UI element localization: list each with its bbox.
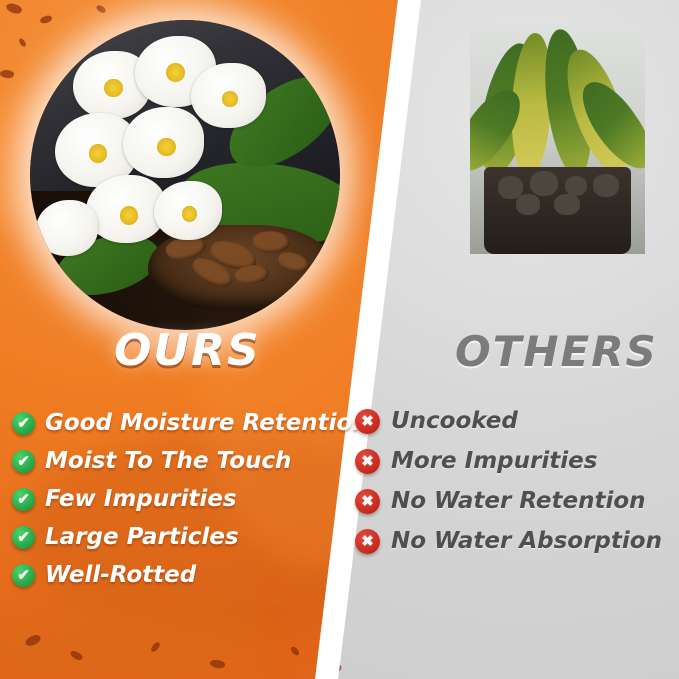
list-item: ✖ No Water Absorption	[355, 528, 675, 554]
feature-label: Uncooked	[391, 408, 518, 434]
x-circle-icon: ✖	[355, 529, 380, 554]
feature-label: Moist To The Touch	[45, 448, 291, 474]
x-circle-icon: ✖	[355, 449, 380, 474]
feature-label: Well-Rotted	[45, 562, 196, 588]
feature-label: More Impurities	[391, 448, 597, 474]
list-item: ✔ Large Particles	[12, 524, 382, 550]
flower-center	[157, 138, 176, 157]
feature-label: Large Particles	[45, 524, 239, 550]
flower-center	[182, 206, 198, 222]
flower-center	[222, 91, 238, 107]
check-circle-icon: ✔	[12, 526, 35, 549]
stone	[554, 194, 580, 215]
stone	[516, 194, 541, 215]
stone	[530, 171, 558, 196]
list-item: ✔ Good Moisture Retention	[12, 410, 382, 436]
feature-label: Few Impurities	[45, 486, 237, 512]
check-circle-icon: ✔	[12, 412, 35, 435]
flower-center	[166, 63, 185, 82]
orchid-flower	[36, 200, 98, 256]
stone	[593, 174, 619, 197]
feature-label: Good Moisture Retention	[45, 410, 369, 436]
list-item: ✔ Well-Rotted	[12, 562, 382, 588]
check-circle-icon: ✔	[12, 564, 35, 587]
comparison-infographic: OURS OTHERS ✔ Good Moisture Retention ✔ …	[0, 0, 679, 679]
feature-label: No Water Retention	[391, 488, 646, 514]
list-item: ✖ No Water Retention	[355, 488, 675, 514]
ours-product-photo	[30, 20, 340, 330]
x-circle-icon: ✖	[355, 489, 380, 514]
others-heading: OTHERS	[455, 327, 658, 376]
list-item: ✔ Few Impurities	[12, 486, 382, 512]
list-item: ✖ Uncooked	[355, 408, 675, 434]
flower-center	[120, 206, 139, 225]
list-item: ✖ More Impurities	[355, 448, 675, 474]
x-circle-icon: ✖	[355, 409, 380, 434]
feature-label: No Water Absorption	[391, 528, 662, 554]
check-circle-icon: ✔	[12, 450, 35, 473]
ours-heading: OURS	[114, 325, 261, 376]
others-product-photo	[470, 24, 645, 254]
others-feature-list: ✖ Uncooked ✖ More Impurities ✖ No Water …	[355, 408, 675, 568]
flower-center	[89, 144, 108, 163]
list-item: ✔ Moist To The Touch	[12, 448, 382, 474]
check-circle-icon: ✔	[12, 488, 35, 511]
ours-feature-list: ✔ Good Moisture Retention ✔ Moist To The…	[12, 410, 382, 600]
